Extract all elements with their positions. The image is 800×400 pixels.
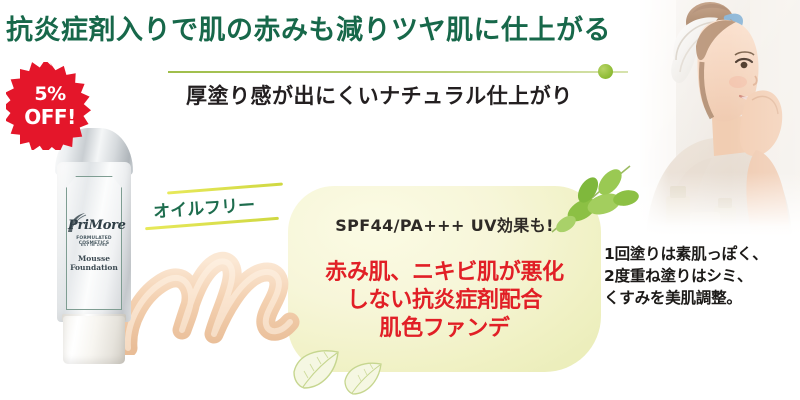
benefit-line-3: 肌色ファンデ <box>288 315 601 343</box>
usage-caption: 1回塗りは素肌っぽく、 2度重ね塗りはシミ、 くすみを美肌調整。 <box>604 243 768 309</box>
oil-free-label: オイルフリー <box>145 183 295 231</box>
leaf-sprig-icon <box>548 158 644 236</box>
oil-free-text: オイルフリー <box>152 190 255 222</box>
page-title: 抗炎症剤入りで肌の赤みも減りツヤ肌に仕上がる <box>6 8 611 47</box>
benefit-line-2: しない抗炎症剤配合 <box>288 287 601 315</box>
tube-cap <box>63 316 125 364</box>
foundation-swatch-image <box>120 230 330 355</box>
discount-badge[interactable]: 5% OFF! <box>6 62 94 150</box>
caption-line-1: 1回塗りは素肌っぽく、 <box>604 243 768 265</box>
caption-line-3: くすみを美肌調整。 <box>604 287 768 309</box>
leaf-outline-icon-right <box>340 360 386 398</box>
benefit-text: 赤み肌、ニキビ肌が悪化 しない抗炎症剤配合 肌色ファンデ <box>288 259 601 343</box>
divider-line <box>168 71 628 73</box>
divider-dot-icon <box>598 64 613 79</box>
tube-established: EST IN 1994 <box>66 243 122 247</box>
caption-line-2: 2度重ね塗りはシミ、 <box>604 265 768 287</box>
subtitle: 厚塗り感が出にくいナチュラル仕上がり <box>186 80 573 110</box>
product-tube-image: PriMore FORMULATED COSMETICS EST IN 1994… <box>55 128 133 356</box>
tube-brand-name: PriMore <box>68 218 120 233</box>
leaf-outline-icon-left <box>288 346 344 392</box>
model-photo <box>640 0 800 236</box>
tube-product-name: Mousse Foundation <box>66 255 122 272</box>
tube-product-name-line2: Foundation <box>70 263 118 272</box>
benefit-line-1: 赤み肌、ニキビ肌が悪化 <box>288 259 601 287</box>
promo-banner: 抗炎症剤入りで肌の赤みも減りツヤ肌に仕上がる 厚塗り感が出にくいナチュラル仕上が… <box>0 0 800 400</box>
starburst-icon <box>6 62 94 150</box>
